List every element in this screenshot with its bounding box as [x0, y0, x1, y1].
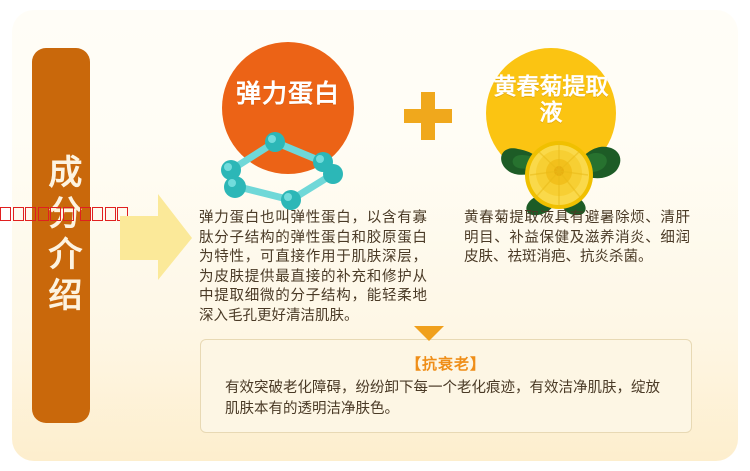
callout-title: 【抗衰老】	[201, 353, 691, 374]
sidebar-title-label: 成分介绍	[43, 154, 79, 318]
elastin-circle-label: 弹力蛋白	[222, 80, 354, 108]
missing-glyph-overlay	[0, 207, 130, 221]
ingredient-introduction-infographic: 成分介绍 弹力蛋白	[0, 0, 750, 471]
missing-glyph-box	[38, 207, 49, 221]
missing-glyph-box	[63, 207, 74, 221]
sidebar-title-bar: 成分介绍	[32, 48, 90, 423]
missing-glyph-box	[92, 207, 103, 221]
chamomile-description: 黄春菊提取液具有避暑除烦、清肝明目、补益保健及滋养消炎、细润皮肤、祛斑消疤、抗炎…	[464, 209, 690, 268]
missing-glyph-box	[13, 207, 24, 221]
missing-glyph-box	[50, 207, 61, 221]
yellow-right-arrow-icon	[118, 192, 194, 288]
plus-sign-icon	[404, 92, 452, 140]
missing-glyph-box	[0, 207, 11, 221]
callout-pointer-icon	[414, 326, 444, 341]
chrysanthemum-flower-icon	[492, 125, 628, 221]
callout-body: 有效突破老化障碍，纷纷卸下每一个老化痕迹，有效洁净肌肤，绽放肌肤本有的透明洁净肤…	[225, 378, 669, 420]
chamomile-circle-label: 黄春菊提取液	[486, 74, 616, 126]
missing-glyph-box	[80, 207, 91, 221]
anti-aging-callout-box: 【抗衰老】 有效突破老化障碍，纷纷卸下每一个老化痕迹，有效洁净肌肤，绽放肌肤本有…	[200, 339, 692, 433]
molecule-icon	[213, 128, 363, 216]
missing-glyph-box	[105, 207, 116, 221]
missing-glyph-box	[25, 207, 36, 221]
elastin-description: 弹力蛋白也叫弹性蛋白，以含有寡肽分子结构的弹性蛋白和胶原蛋白为特性，可直接作用于…	[199, 209, 427, 326]
